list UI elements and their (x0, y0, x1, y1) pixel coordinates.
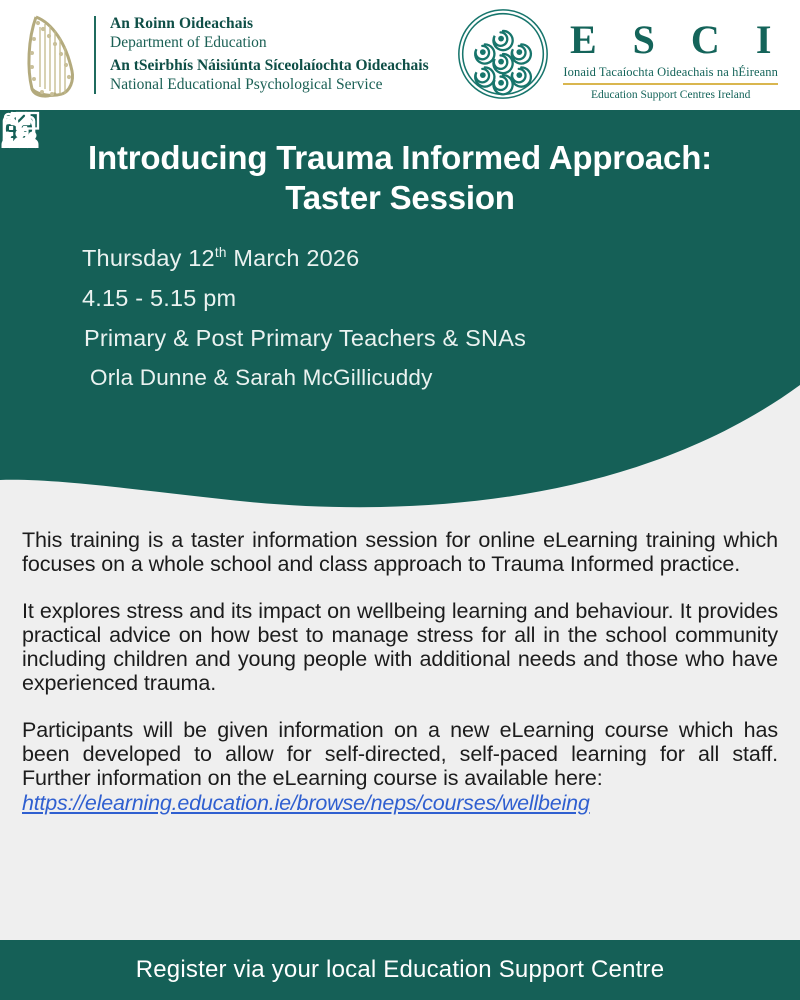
event-time: 4.15 - 5.15 pm (74, 285, 236, 312)
paragraph-3: Participants will be given information o… (22, 718, 778, 815)
esci-english-name: Education Support Centres Ireland (557, 89, 784, 101)
event-date-month-year: March 2026 (227, 245, 360, 271)
neps-irish-title: An tSeirbhís Náisiúnta Síceolaíochta Oid… (110, 57, 429, 76)
footer-register-text: Register via your local Education Suppor… (136, 956, 665, 984)
department-of-education-logo: An Roinn Oideachais Department of Educat… (0, 9, 429, 101)
paragraph-1: This training is a taster information se… (22, 528, 778, 577)
event-date-main: Thursday 12 (82, 245, 215, 271)
paragraph-2: It explores stress and its impact on wel… (22, 599, 778, 696)
detail-row-presenters: Orla Dunne & Sarah McGillicuddy (22, 365, 800, 391)
page-title-line1: Introducing Trauma Informed Approach: (40, 138, 760, 178)
hero-banner: Introducing Trauma Informed Approach: Ta… (0, 110, 800, 510)
event-date: Thursday 12th March 2026 (74, 245, 359, 272)
dept-irish-title: An Roinn Oideachais (110, 15, 429, 34)
logo-divider (94, 16, 96, 94)
dept-english-title: Department of Education (110, 34, 429, 53)
paragraph-3-text: Participants will be given information o… (22, 718, 778, 791)
neps-english-title: National Educational Psychological Servi… (110, 76, 429, 95)
page-title: Introducing Trauma Informed Approach: Ta… (0, 110, 800, 219)
page-title-line2: Taster Session (40, 178, 760, 218)
esci-spiral-emblem-icon (455, 6, 551, 102)
detail-row-date: Thursday 12th March 2026 (22, 245, 800, 272)
irish-harp-icon (22, 9, 84, 101)
esci-acronym: E S C I (557, 20, 784, 60)
detail-row-time: 4.15 - 5.15 pm (22, 285, 800, 312)
body-content: This training is a taster information se… (0, 528, 800, 815)
event-audience: Primary & Post Primary Teachers & SNAs (74, 325, 526, 352)
event-date-ordinal: th (215, 245, 227, 260)
footer-banner: Register via your local Education Suppor… (0, 940, 800, 1000)
esci-gold-rule (563, 83, 778, 85)
event-details-list: Thursday 12th March 2026 4.15 - 5.15 pm (0, 219, 800, 391)
event-presenters: Orla Dunne & Sarah McGillicuddy (74, 365, 433, 391)
esci-irish-name: Ionaid Tacaíochta Oideachais na hÉireann (557, 65, 784, 80)
elearning-course-link[interactable]: https://elearning.education.ie/browse/ne… (22, 791, 778, 815)
esci-logo-text: E S C I Ionaid Tacaíochta Oideachais na … (551, 6, 784, 101)
department-logo-text: An Roinn Oideachais Department of Educat… (110, 15, 429, 95)
detail-row-audience: Primary & Post Primary Teachers & SNAs (22, 325, 800, 352)
page-header: An Roinn Oideachais Department of Educat… (0, 0, 800, 110)
esci-logo: E S C I Ionaid Tacaíochta Oideachais na … (455, 6, 784, 102)
